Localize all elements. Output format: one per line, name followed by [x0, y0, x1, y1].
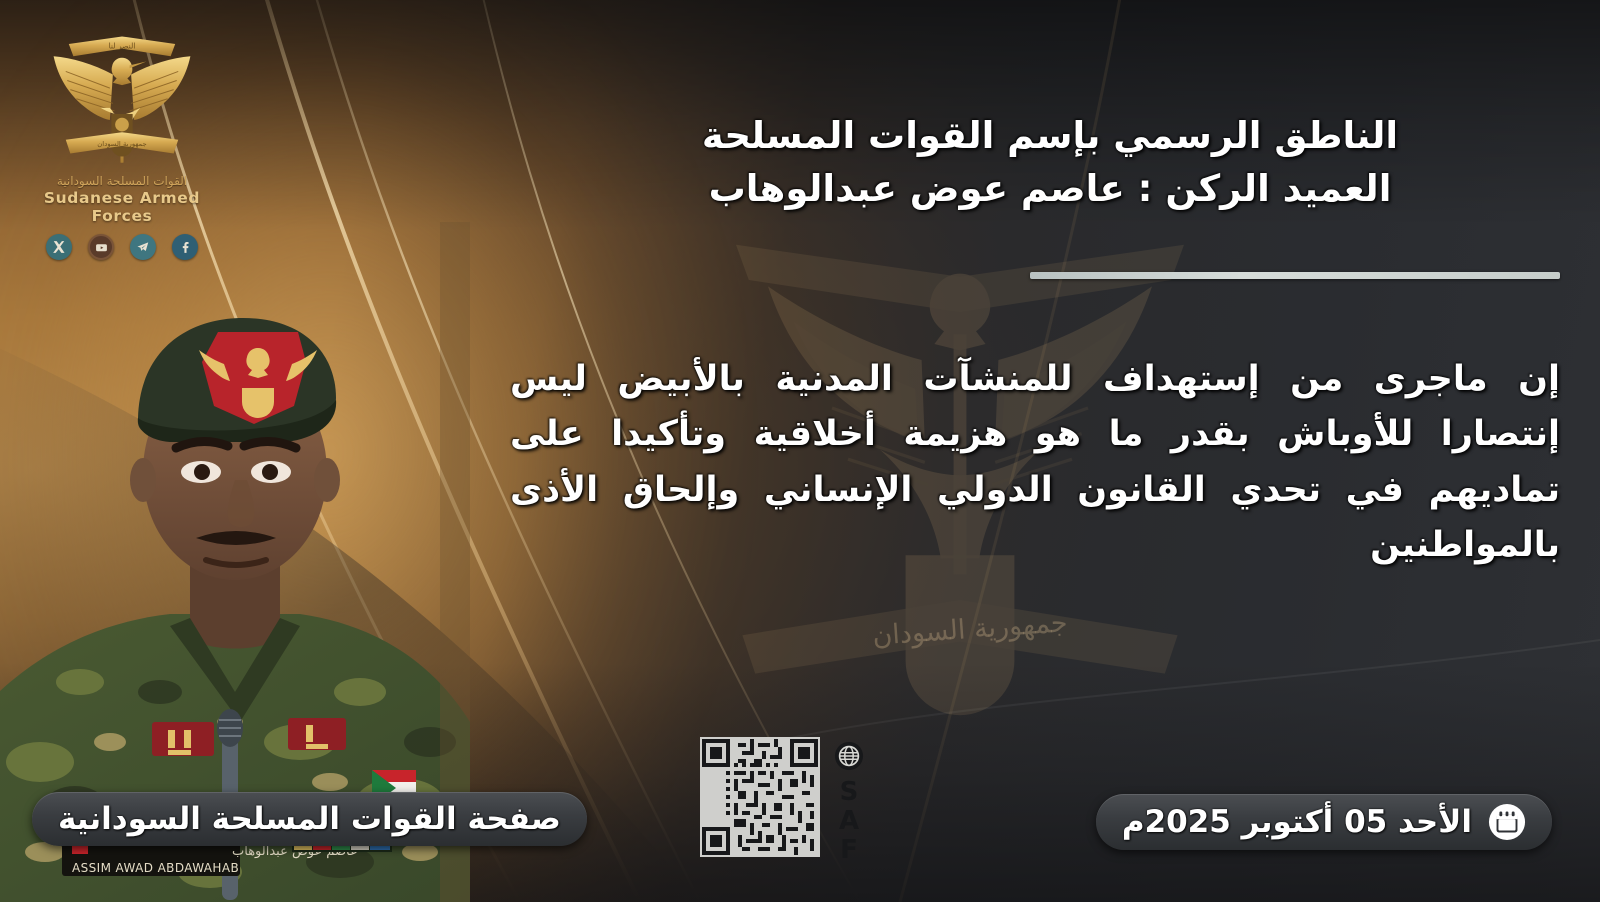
qr-block[interactable]: SAF — [700, 737, 864, 864]
poster-canvas: جمهورية السودان — [0, 0, 1600, 902]
svg-text:جمهورية السودان: جمهورية السودان — [97, 140, 146, 148]
saf-logo-block[interactable]: النصر لنا جمهورية السودان القوات المسلحة… — [22, 18, 222, 260]
saf-logo-arabic-name: القوات المسلحة السودانية — [22, 174, 222, 188]
x-twitter-icon[interactable] — [46, 234, 72, 260]
saf-eagle-emblem-icon: النصر لنا جمهورية السودان — [46, 18, 198, 178]
youtube-icon[interactable] — [88, 234, 114, 260]
svg-text:ASSIM AWAD ABDAWAHAB: ASSIM AWAD ABDAWAHAB — [72, 861, 239, 875]
title-divider — [1030, 272, 1560, 279]
social-links-row[interactable] — [22, 234, 222, 260]
headline-line-1: الناطق الرسمي بإسم القوات المسلحة — [702, 114, 1398, 157]
qr-side-branding: SAF — [834, 737, 864, 864]
headline-line-2: العميد الركن : عاصم عوض عبدالوهاب — [540, 163, 1560, 216]
saf-logo-english-name: Sudanese Armed Forces — [22, 189, 222, 225]
date-badge: الأحد 05 أكتوبر 2025م — [1096, 794, 1552, 850]
page-name-label: صفحة القوات المسلحة السودانية — [58, 801, 561, 837]
saf-vertical-label: SAF — [836, 777, 862, 864]
page-title: الناطق الرسمي بإسم القوات المسلحة العميد… — [540, 110, 1560, 215]
qr-code[interactable] — [700, 737, 820, 857]
globe-icon — [834, 741, 864, 771]
date-label: الأحد 05 أكتوبر 2025م — [1122, 804, 1472, 840]
page-name-badge[interactable]: صفحة القوات المسلحة السودانية — [32, 792, 587, 846]
statement-body: إن ماجرى من إستهداف للمنشآت المدنية بالأ… — [510, 352, 1560, 573]
telegram-icon[interactable] — [130, 234, 156, 260]
facebook-icon[interactable] — [172, 234, 198, 260]
calendar-icon — [1488, 803, 1526, 841]
svg-text:النصر لنا: النصر لنا — [109, 42, 136, 51]
